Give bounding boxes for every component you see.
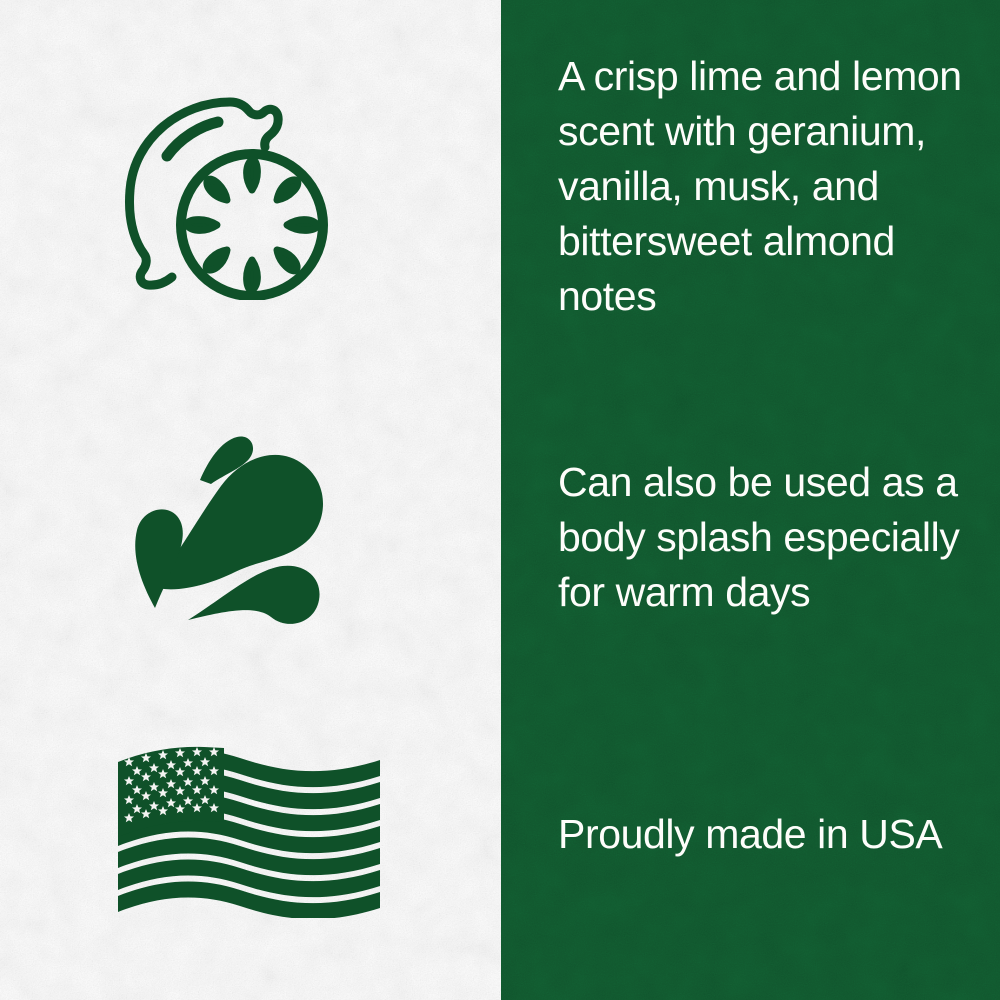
water-splash-icon [125, 420, 335, 636]
icon-panel [0, 0, 501, 1000]
feature-text-body-splash: Can also be used as a body splash especi… [558, 455, 978, 620]
description-panel: A crisp lime and lemon scent with gerani… [501, 0, 1000, 1000]
product-feature-infographic: A crisp lime and lemon scent with gerani… [0, 0, 1000, 1000]
feature-text-made-in-usa: Proudly made in USA [558, 807, 978, 862]
feature-text-scent: A crisp lime and lemon scent with gerani… [558, 49, 978, 324]
lemon-lime-slice-icon [118, 94, 336, 300]
usa-flag-icon [118, 742, 380, 918]
